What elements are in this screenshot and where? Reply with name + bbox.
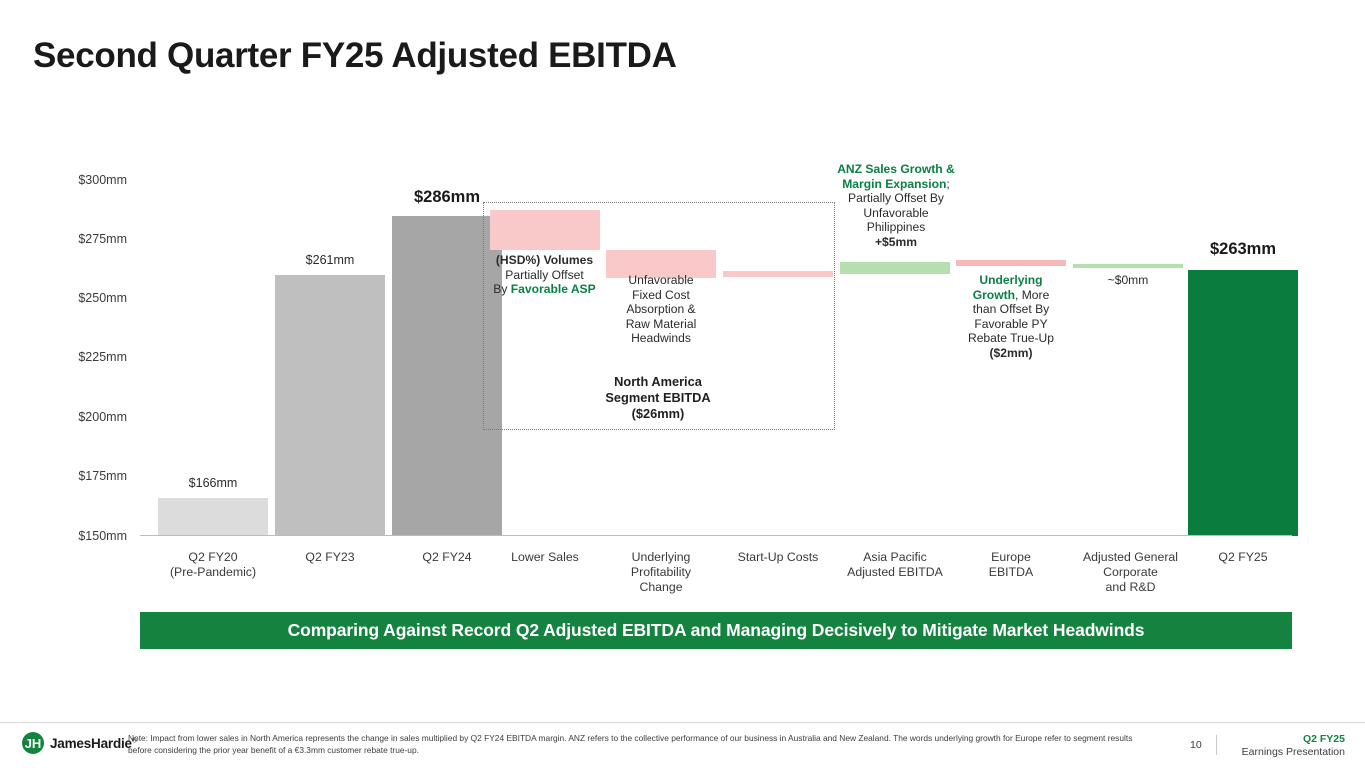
anno-eu-l2a: Growth xyxy=(973,288,1015,302)
anno-up-l2: Fixed Cost xyxy=(632,288,690,302)
anno-up-l1: Unfavorable xyxy=(628,273,693,287)
anno-ap-l4: Unfavorable xyxy=(863,206,928,220)
anno-ls-l2: Partially Offset xyxy=(505,268,583,282)
footnote-text: Note: Impact from lower sales in North A… xyxy=(128,733,1148,756)
y-axis-labels: $300mm $275mm $250mm $225mm $200mm $175m… xyxy=(0,140,140,600)
jameshardie-mark-icon: JH xyxy=(22,732,44,754)
anno-ap-l5: Philippines xyxy=(867,220,926,234)
cat-europe: EuropeEBITDA xyxy=(946,550,1076,580)
bar-q2-fy23 xyxy=(275,275,385,536)
anno-ls-l3a: By xyxy=(493,282,510,296)
anno-eu-l4: Favorable PY xyxy=(974,317,1047,331)
anno-ap-l2: Margin Expansion xyxy=(842,177,946,191)
cat-q2-fy25: Q2 FY25 xyxy=(1178,550,1308,565)
anno-ap-l1: ANZ Sales Growth & xyxy=(837,162,955,176)
anno-up-l3: Absorption & xyxy=(626,302,695,316)
cat-start-up-costs: Start-Up Costs xyxy=(713,550,843,565)
bar-adjusted-general-corporate xyxy=(1073,264,1183,268)
y-tick-250: $250mm xyxy=(78,291,127,305)
cat-underlying-profitability: UnderlyingProfitabilityChange xyxy=(596,550,726,595)
anno-up-l5: Headwinds xyxy=(631,331,691,345)
bar-asia-pacific xyxy=(840,262,950,274)
logo-text: JamesHardie® xyxy=(50,736,137,751)
north-america-group-label: North America Segment EBITDA ($26mm) xyxy=(533,374,783,422)
y-tick-200: $200mm xyxy=(78,410,127,424)
page-title: Second Quarter FY25 Adjusted EBITDA xyxy=(33,36,677,76)
waterfall-chart: $300mm $275mm $250mm $225mm $200mm $175m… xyxy=(0,140,1365,600)
anno-eu-l6: ($2mm) xyxy=(989,346,1032,360)
y-tick-225: $225mm xyxy=(78,350,127,364)
y-tick-300: $300mm xyxy=(78,173,127,187)
na-label-line1: North America xyxy=(614,374,702,389)
key-message-banner: Comparing Against Record Q2 Adjusted EBI… xyxy=(140,612,1292,649)
cat-q2-fy20: Q2 FY20(Pre-Pandemic) xyxy=(148,550,278,580)
bar-value-q2-fy25: $263mm xyxy=(1143,240,1343,259)
page-footer: JH JamesHardie® Note: Impact from lower … xyxy=(0,722,1365,768)
anno-ls-l3b: Favorable ASP xyxy=(511,282,596,296)
anno-eu-l2b: , More xyxy=(1015,288,1049,302)
deck-title: Q2 FY25 xyxy=(1242,733,1345,745)
company-logo: JH JamesHardie® xyxy=(22,732,137,754)
anno-eu-l1: Underlying xyxy=(979,273,1042,287)
plot-area: $166mm $261mm $286mm $263mm North Americ… xyxy=(140,140,1290,600)
annotation-asia-pacific: ANZ Sales Growth & Margin Expansion; Par… xyxy=(822,162,970,250)
na-label-line3: ($26mm) xyxy=(632,406,685,421)
deck-subtitle: Earnings Presentation xyxy=(1242,746,1345,758)
bar-q2-fy25 xyxy=(1188,270,1298,536)
anno-ap-l6: +$5mm xyxy=(875,235,917,249)
anno-corp-l1: ~$0mm xyxy=(1108,273,1149,287)
banner-text: Comparing Against Record Q2 Adjusted EBI… xyxy=(288,620,1145,641)
cat-asia-pacific: Asia PacificAdjusted EBITDA xyxy=(830,550,960,580)
y-tick-150: $150mm xyxy=(78,529,127,543)
cat-lower-sales: Lower Sales xyxy=(480,550,610,565)
x-axis-line xyxy=(140,535,1292,536)
na-label-line2: Segment EBITDA xyxy=(605,390,710,405)
y-tick-275: $275mm xyxy=(78,232,127,246)
anno-ap-l2b: ; xyxy=(946,177,949,191)
annotation-corporate: ~$0mm xyxy=(1068,273,1188,288)
bar-europe xyxy=(956,260,1066,266)
anno-eu-l3: than Offset By xyxy=(973,302,1049,316)
annotation-lower-sales: (HSD%) Volumes Partially Offset By Favor… xyxy=(477,253,612,297)
bar-q2-fy20 xyxy=(158,498,268,536)
annotation-europe: Underlying Growth, More than Offset By F… xyxy=(945,273,1077,361)
anno-ap-l3: Partially Offset By xyxy=(848,191,944,205)
footer-divider xyxy=(1216,735,1217,755)
anno-ls-l1: (HSD%) Volumes xyxy=(496,253,593,267)
anno-eu-l5: Rebate True-Up xyxy=(968,331,1054,345)
deck-info: Q2 FY25 Earnings Presentation xyxy=(1242,733,1345,758)
anno-up-l4: Raw Material xyxy=(626,317,697,331)
x-axis-categories: Q2 FY20(Pre-Pandemic) Q2 FY23 Q2 FY24 Lo… xyxy=(140,540,1292,610)
page-number: 10 xyxy=(1190,739,1202,751)
annotation-underlying-profitability: Unfavorable Fixed Cost Absorption & Raw … xyxy=(595,273,727,346)
cat-q2-fy23: Q2 FY23 xyxy=(265,550,395,565)
